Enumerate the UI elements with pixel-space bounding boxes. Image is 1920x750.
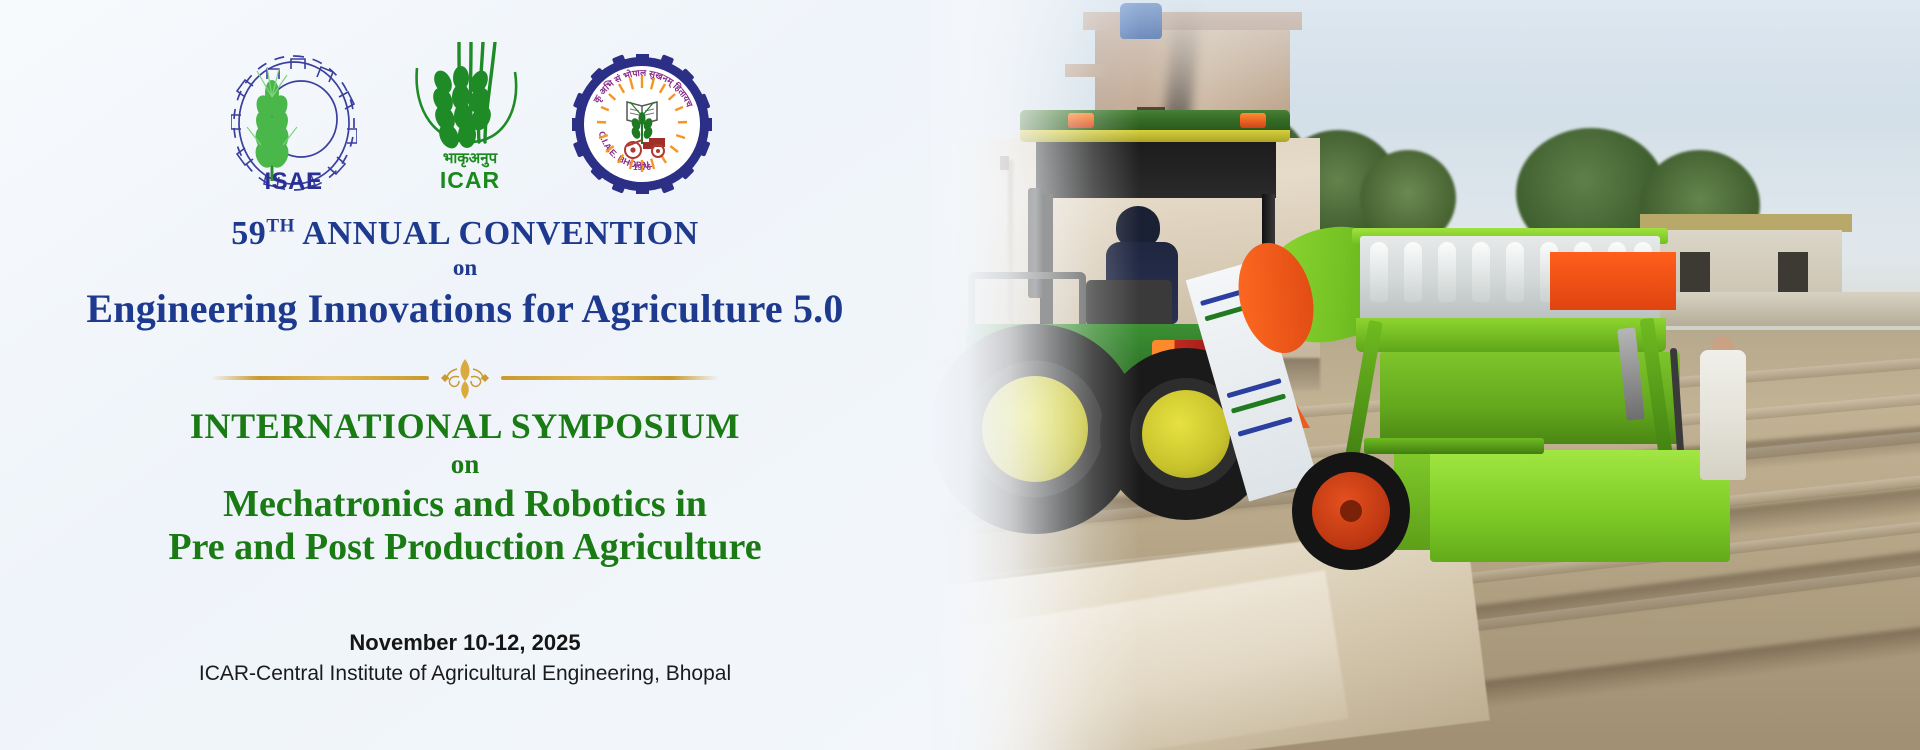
symposium-connector: on	[0, 449, 930, 480]
tractor-marker-light	[1240, 113, 1266, 128]
ciae-logo: कृ अभि सं भोपाल सुखनम् हितायच C.I.A.E. B…	[572, 54, 712, 194]
convention-ordinal-suffix: TH	[266, 216, 295, 237]
event-venue: ICAR-Central Institute of Agricultural E…	[0, 662, 930, 686]
divider-bar-right	[501, 376, 719, 380]
ciae-founding-year: 1976	[633, 163, 651, 172]
hopper-orange-label	[1550, 252, 1676, 310]
convention-banner: ISAE	[0, 0, 1920, 750]
tractor-roof-underside	[1036, 142, 1276, 198]
tractor-rear-rail	[968, 272, 1086, 332]
wheat-ear-emblem	[403, 42, 538, 152]
ornamental-divider	[0, 355, 930, 401]
implement-bed-former	[1430, 450, 1730, 562]
footer-block: November 10-12, 2025 ICAR-Central Instit…	[0, 630, 930, 686]
divider-ornament-icon	[429, 355, 501, 401]
planter-implement	[1180, 200, 1820, 600]
field-worker	[1700, 350, 1746, 480]
symposium-block: INTERNATIONAL SYMPOSIUM on Mechatronics …	[0, 405, 930, 568]
icar-acronym: ICAR	[403, 167, 538, 194]
symposium-heading: INTERNATIONAL SYMPOSIUM	[0, 405, 930, 447]
tractor-rear-hub	[982, 376, 1088, 482]
event-dates: November 10-12, 2025	[0, 630, 930, 656]
icar-logo: भाकृअनुप ICAR	[403, 42, 538, 194]
logo-row: ISAE	[0, 42, 930, 194]
tower-ledge	[1065, 64, 1111, 77]
isae-logo: ISAE	[219, 49, 369, 194]
divider-bar-left	[211, 376, 429, 380]
isae-acronym: ISAE	[219, 168, 369, 196]
tractor-canopy-trim	[1020, 130, 1290, 142]
sun-gear-tractor-emblem: कृ अभि सं भोपाल सुखनम् हितायच C.I.A.E. B…	[572, 54, 712, 194]
tractor-marker-light	[1068, 113, 1094, 128]
photo-tractor-planter-field	[880, 0, 1920, 750]
tractor-seat	[1086, 280, 1172, 326]
implement-toolbar	[1364, 438, 1544, 454]
convention-theme: Engineering Innovations for Agriculture …	[0, 285, 930, 332]
left-content-panel: ISAE	[0, 0, 930, 750]
symposium-topic-line1: Mechatronics and Robotics in	[0, 483, 930, 526]
symposium-topic-line2: Pre and Post Production Agriculture	[0, 526, 930, 569]
icar-hindi-name: भाकृअनुप	[403, 148, 538, 168]
implement-wheel-hub	[1312, 472, 1390, 550]
convention-title-block: 59TH ANNUAL CONVENTION on Engineering In…	[0, 215, 930, 332]
convention-ordinal-number: 59	[231, 215, 266, 252]
convention-heading-text: ANNUAL CONVENTION	[302, 215, 699, 252]
convention-heading: 59TH ANNUAL CONVENTION	[0, 215, 930, 252]
convention-connector: on	[0, 255, 930, 281]
blue-water-tank	[1120, 3, 1162, 39]
wheat-ear	[247, 67, 297, 181]
